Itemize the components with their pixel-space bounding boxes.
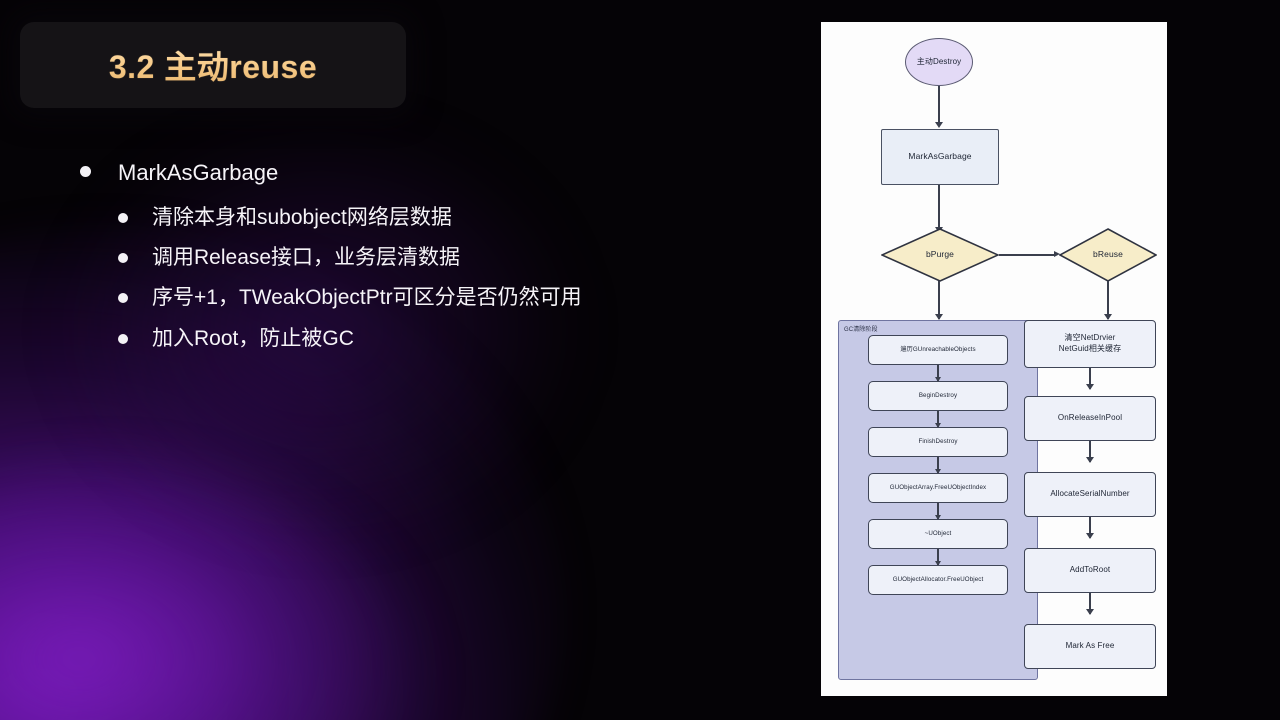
flowchart-canvas: 主动Destroy MarkAsGarbage bPurge (821, 22, 1167, 696)
flow-edge (938, 86, 940, 126)
flow-node-breuse: bReuse (1059, 228, 1157, 282)
flow-edge (938, 185, 940, 231)
list-item: MarkAsGarbage (80, 158, 740, 188)
page-title: 3.2 主动reuse (109, 42, 317, 88)
flow-node-label: GUObjectArray.FreeUObjectIndex (890, 484, 986, 492)
flow-node-label: GUObjectAllocator.FreeUObject (893, 576, 984, 584)
list-item-label: MarkAsGarbage (118, 158, 278, 188)
flow-node-reuse-step: 清空NetDrvier NetGuid相关缓存 (1024, 320, 1156, 368)
flow-node-start: 主动Destroy (905, 38, 973, 86)
flow-arrowhead-icon (1086, 384, 1094, 390)
list-item: 调用Release接口，业务层清数据 (118, 244, 740, 272)
list-item-label: 调用Release接口，业务层清数据 (152, 244, 460, 272)
bullet-dot-icon (118, 334, 128, 344)
bullet-dot-icon (118, 253, 128, 263)
flow-node-markasgarbage: MarkAsGarbage (881, 129, 999, 185)
flow-node-label: 清空NetDrvier NetGuid相关缓存 (1059, 333, 1121, 355)
bullet-dot-icon (118, 213, 128, 223)
slide-root: 3.2 主动reuse MarkAsGarbage 清除本身和subobject… (0, 0, 1280, 720)
flowchart-panel: 主动Destroy MarkAsGarbage bPurge (821, 22, 1167, 696)
flow-node-label: 主动Destroy (917, 57, 961, 68)
title-plate: 3.2 主动reuse (20, 22, 406, 108)
flow-node-gc-step: ~UObject (868, 519, 1008, 549)
flow-node-label: BeginDestroy (919, 392, 957, 400)
flow-node-label: Mark As Free (1066, 641, 1115, 652)
flow-group-label: GC清除阶段 (844, 324, 878, 333)
flow-node-label: OnReleaseInPool (1058, 413, 1122, 424)
flow-edge (999, 254, 1056, 256)
flow-node-label: AllocateSerialNumber (1050, 489, 1129, 500)
flow-node-gc-step: GUObjectArray.FreeUObjectIndex (868, 473, 1008, 503)
flow-node-label: FinishDestroy (918, 438, 957, 446)
list-item: 序号+1，TWeakObjectPtr可区分是否仍然可用 (118, 284, 740, 312)
flow-arrowhead-icon (935, 122, 943, 128)
flow-node-label: bPurge (926, 249, 954, 260)
list-item: 加入Root，防止被GC (118, 325, 740, 353)
flow-node-reuse-step: Mark As Free (1024, 624, 1156, 669)
list-item-label: 清除本身和subobject网络层数据 (152, 204, 452, 232)
flow-arrowhead-icon (1086, 533, 1094, 539)
flow-node-gc-step: BeginDestroy (868, 381, 1008, 411)
flow-node-gc-step: 遍历GUnreachableObjects (868, 335, 1008, 365)
bullet-dot-icon (118, 293, 128, 303)
flow-node-reuse-step: OnReleaseInPool (1024, 396, 1156, 441)
flow-node-label: MarkAsGarbage (908, 151, 971, 162)
flow-node-reuse-step: AllocateSerialNumber (1024, 472, 1156, 517)
list-item: 清除本身和subobject网络层数据 (118, 204, 740, 232)
flow-node-gc-step: FinishDestroy (868, 427, 1008, 457)
flow-node-label: bReuse (1093, 249, 1123, 260)
flow-node-gc-step: GUObjectAllocator.FreeUObject (868, 565, 1008, 595)
list-item-label: 序号+1，TWeakObjectPtr可区分是否仍然可用 (152, 284, 582, 312)
purple-glow-secondary (0, 470, 420, 720)
flow-node-bpurge: bPurge (881, 228, 999, 282)
flow-arrowhead-icon (1086, 457, 1094, 463)
bullet-list: MarkAsGarbage 清除本身和subobject网络层数据 调用Rele… (80, 158, 740, 365)
flow-node-reuse-step: AddToRoot (1024, 548, 1156, 593)
flow-node-label: ~UObject (925, 530, 952, 538)
list-item-label: 加入Root，防止被GC (152, 325, 354, 353)
flow-node-label: 遍历GUnreachableObjects (900, 346, 975, 354)
flow-arrowhead-icon (1086, 609, 1094, 615)
bullet-dot-icon (80, 166, 91, 177)
flow-node-label: AddToRoot (1070, 565, 1110, 576)
